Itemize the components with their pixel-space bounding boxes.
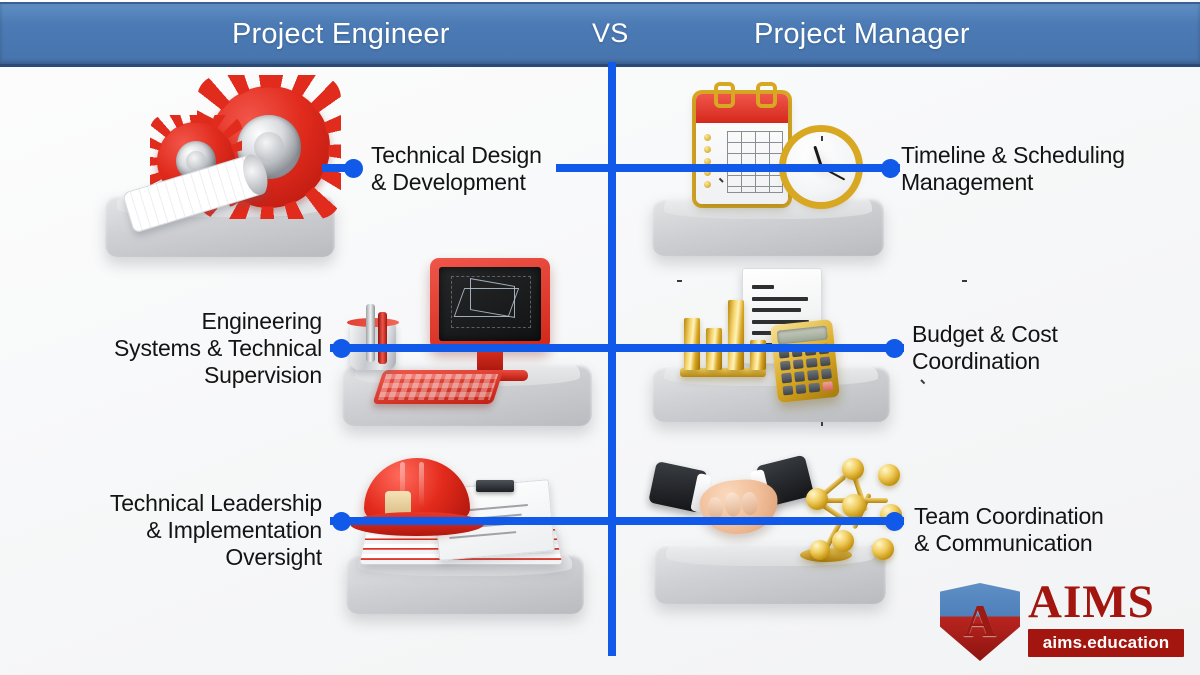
header-bar: Project Engineer VS Project Manager (0, 2, 1200, 67)
handshake-hands-icon (698, 477, 780, 538)
network-node (872, 538, 894, 560)
cad-screen (439, 267, 541, 341)
center-divider-line (608, 62, 616, 656)
clipboard-clip-icon (476, 480, 514, 492)
connector-dot-right-row1 (881, 159, 900, 178)
aims-domain-text: aims.education (1028, 633, 1184, 653)
network-node (810, 540, 830, 560)
header-left-title: Project Engineer (232, 18, 450, 51)
connector-right-row3 (612, 517, 904, 525)
network-node (878, 464, 900, 486)
header-vs-label: VS (592, 18, 628, 49)
calendar-ring-icon (756, 82, 777, 108)
calendar-ring-icon (714, 82, 735, 108)
monitor-icon (430, 258, 550, 350)
cad-monitor-icon (330, 252, 602, 432)
connector-right-row1 (612, 164, 900, 172)
connector-dot-right-row3 (885, 512, 904, 531)
header-right-title: Project Manager (754, 18, 970, 51)
connector-dot-left-row1 (344, 159, 363, 178)
network-node (842, 458, 864, 480)
network-node (806, 488, 828, 510)
gears-blueprint-icon (95, 80, 355, 260)
pen-icon (366, 304, 375, 362)
connector-dot-left-row2 (332, 339, 351, 358)
connector-left-row2 (330, 344, 614, 352)
hardhat-documents-icon (332, 442, 604, 624)
infographic-canvas: Project Engineer VS Project Manager Tech… (0, 0, 1200, 675)
aims-crest-icon: A (940, 583, 1020, 661)
label-right-row3: Team Coordination & Communication (914, 503, 1164, 557)
connector-left-row3 (330, 517, 614, 525)
handshake-network-icon (650, 442, 912, 624)
gold-bar (728, 300, 744, 370)
crest-monogram: A (963, 598, 996, 644)
label-left-row2: Engineering Systems & Technical Supervis… (60, 308, 322, 389)
aims-logo[interactable]: A AIMS aims.education (940, 579, 1186, 665)
pedestal (652, 198, 884, 256)
label-left-row1: Technical Design & Development (371, 142, 601, 196)
pen-icon (378, 312, 387, 364)
aims-wordmark: AIMS (1028, 577, 1155, 629)
label-left-row3: Technical Leadership & Implementation Ov… (55, 490, 322, 571)
network-node (842, 494, 866, 518)
calendar-icon (696, 94, 788, 204)
label-right-row2: Budget & Cost Coordination (912, 321, 1162, 375)
connector-dot-left-row3 (332, 512, 351, 531)
label-right-row1: Timeline & Scheduling Management (901, 142, 1161, 196)
connector-right-row2 (612, 344, 904, 352)
network-node (832, 530, 854, 552)
calculator-icon (770, 319, 840, 403)
aims-domain-band: aims.education (1028, 629, 1184, 657)
connector-dot-right-row2 (885, 339, 904, 358)
keyboard-icon (372, 370, 503, 404)
